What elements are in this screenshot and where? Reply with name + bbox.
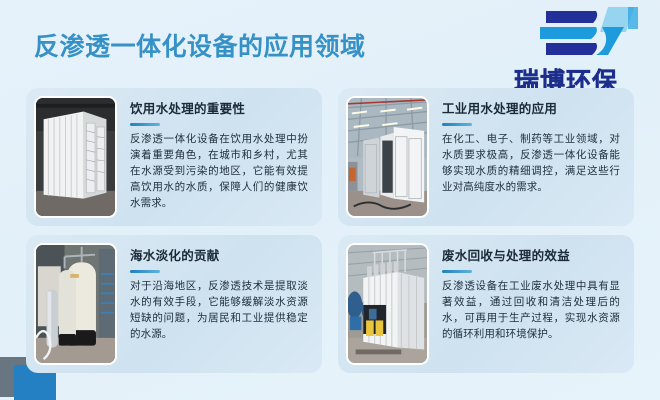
card-accent-rule [442,270,472,274]
card-drinking-water[interactable]: 饮用水处理的重要性 反渗透一体化设备在饮用水处理中扮演着重要角色，在城市和乡村，… [26,88,322,226]
card-description: 对于沿海地区，反渗透技术是提取淡水的有效手段，它能够缓解淡水资源短缺的问题，为居… [130,279,308,343]
logo-mark-icon [488,6,644,62]
application-areas-grid: 饮用水处理的重要性 反渗透一体化设备在饮用水处理中扮演着重要角色，在城市和乡村，… [26,88,634,373]
card-description: 在化工、电子、制药等工业领域，对水质要求极高，反渗透一体化设备能够实现水质的精细… [442,132,620,196]
card-image-industrial-water [346,96,429,218]
card-image-wastewater-recycling [346,243,429,365]
card-title: 海水淡化的贡献 [130,249,308,263]
card-accent-rule [130,270,160,274]
card-industrial-water[interactable]: 工业用水处理的应用 在化工、电子、制药等工业领域，对水质要求极高，反渗透一体化设… [338,88,634,226]
card-description: 反渗透一体化设备在饮用水处理中扮演着重要角色，在城市和乡村，尤其在水源受到污染的… [130,132,308,212]
brand-logo: 瑞博环保 [488,6,644,98]
card-body: 饮用水处理的重要性 反渗透一体化设备在饮用水处理中扮演着重要角色，在城市和乡村，… [117,96,314,218]
card-title: 废水回收与处理的效益 [442,249,620,263]
card-wastewater-recycling[interactable]: 废水回收与处理的效益 反渗透设备在工业废水处理中具有显著效益，通过回收和清洁处理… [338,235,634,373]
card-title: 饮用水处理的重要性 [130,102,308,116]
card-image-drinking-water [34,96,117,218]
card-seawater-desalination[interactable]: 海水淡化的贡献 对于沿海地区，反渗透技术是提取淡水的有效手段，它能够缓解淡水资源… [26,235,322,373]
card-description: 反渗透设备在工业废水处理中具有显著效益，通过回收和清洁处理后的水，可再用于生产过… [442,279,620,343]
page-title: 反渗透一体化设备的应用领域 [34,27,366,63]
card-body: 废水回收与处理的效益 反渗透设备在工业废水处理中具有显著效益，通过回收和清洁处理… [429,243,626,365]
card-image-seawater-desalination [34,243,117,365]
card-body: 海水淡化的贡献 对于沿海地区，反渗透技术是提取淡水的有效手段，它能够缓解淡水资源… [117,243,314,365]
card-title: 工业用水处理的应用 [442,102,620,116]
card-accent-rule [130,123,160,127]
card-body: 工业用水处理的应用 在化工、电子、制药等工业领域，对水质要求极高，反渗透一体化设… [429,96,626,218]
card-accent-rule [442,123,472,127]
